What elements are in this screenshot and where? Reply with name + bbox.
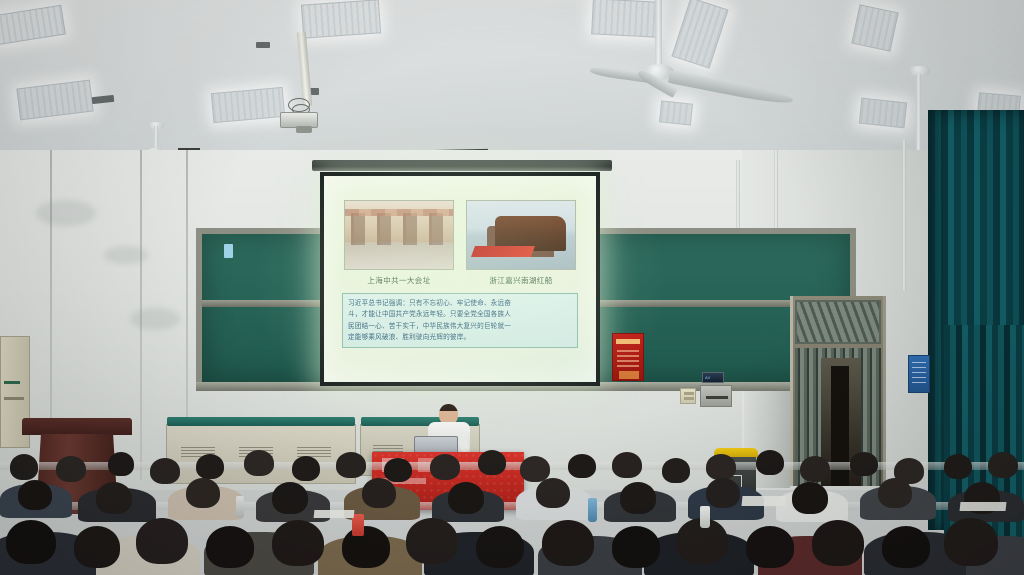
door-transom-grille (795, 300, 881, 344)
audience-head (944, 454, 972, 479)
audience-head (272, 520, 324, 566)
audience-head (988, 452, 1018, 478)
slide-body-line: 定能够乘风破浪、胜利驶向光辉的彼岸。 (348, 332, 572, 343)
audience-head (746, 526, 794, 568)
audience-head (342, 526, 390, 568)
slide-content: 上海中共一大会址 浙江嘉兴南湖红船 习近平总书记强调：只有不忘初心、牢记使命、永… (324, 176, 596, 348)
audience-crowd (0, 440, 1024, 575)
ceiling-light-panel (211, 87, 285, 123)
audience-head (476, 526, 524, 568)
ceiling-light-panel (859, 98, 907, 129)
ceiling-light-panel (0, 5, 66, 46)
water-bottle (236, 496, 244, 518)
audience-head (10, 454, 38, 480)
water-bottle (588, 498, 597, 522)
audience-head (620, 482, 656, 514)
audience-head (706, 478, 740, 508)
audience-head (944, 518, 998, 566)
audience-head (520, 456, 550, 482)
audience-head (706, 454, 736, 480)
audience-head (272, 482, 308, 514)
blue-notice-poster (908, 355, 930, 393)
audience-head (18, 480, 52, 510)
audience-head (108, 452, 134, 476)
audience-head (612, 452, 642, 478)
audience-head (406, 518, 458, 564)
ceiling-light-panel (671, 0, 728, 69)
audience-head (536, 478, 570, 508)
audience-head (56, 456, 86, 482)
slide-captions-row: 上海中共一大会址 浙江嘉兴南湖红船 (336, 275, 584, 286)
audience-head (196, 454, 224, 479)
av-display-text: AV (705, 375, 711, 380)
projection-screen: 上海中共一大会址 浙江嘉兴南湖红船 习近平总书记强调：只有不忘初心、牢记使命、永… (320, 172, 600, 386)
slide-body-line: 习近平总书记强调：只有不忘初心、牢记使命、永远奋 (348, 298, 572, 309)
slide-photo-red-boat (466, 200, 576, 270)
audience-head (136, 518, 188, 564)
slide-caption-right: 浙江嘉兴南湖红船 (466, 275, 576, 286)
paper-stack (314, 510, 355, 518)
light-switch-panel[interactable] (680, 388, 696, 404)
slide-body-line: 民团结一心、苦干实干，中华民族伟大复兴的巨轮就一 (348, 321, 572, 332)
audience-head (542, 520, 594, 566)
audience-head (878, 478, 912, 508)
av-control-display: AV (702, 372, 724, 383)
screen-roller-case (312, 160, 612, 171)
audience-head (568, 454, 596, 478)
paper-stack (960, 502, 1007, 511)
ceiling-light-panel (16, 80, 93, 121)
slide-text-box: 习近平总书记强调：只有不忘初心、牢记使命、永远奋 斗，才能让中国共产党永远年轻。… (342, 293, 578, 348)
av-control-box[interactable] (700, 385, 732, 407)
audience-head (850, 452, 878, 476)
chalkboard-magnet (224, 244, 233, 258)
audience-head (362, 478, 396, 508)
audience-head (612, 526, 660, 568)
audience-head (756, 450, 784, 475)
red-poster (612, 333, 644, 381)
slide-body-line: 斗，才能让中国共产党永远年轻。只要全党全国各族人 (348, 309, 572, 320)
audience-head (206, 526, 254, 568)
ceiling-vent (256, 42, 270, 48)
audience-head (96, 482, 132, 514)
ceiling-vent (92, 95, 115, 104)
cabinet-counter (167, 417, 355, 426)
audience-head (448, 482, 484, 514)
audience-head (662, 458, 690, 483)
audience-head (430, 454, 460, 480)
audience-head (792, 482, 828, 514)
slide-caption-left: 上海中共一大会址 (344, 275, 454, 286)
audience-head (186, 478, 220, 508)
audience-head (478, 450, 506, 475)
audience-head (74, 526, 120, 568)
water-bottle (700, 506, 710, 528)
lectern-top (22, 418, 132, 435)
audience-head (244, 450, 274, 476)
audience-head (292, 456, 320, 481)
audience-head (150, 458, 180, 484)
lecture-hall-photo: 上海中共一大会址 浙江嘉兴南湖红船 习近平总书记强调：只有不忘初心、牢记使命、永… (0, 0, 1024, 575)
audience-head (6, 520, 56, 564)
ceiling-light-panel (851, 4, 898, 51)
slide-images-row (336, 200, 584, 270)
slide-photo-shikumen (344, 200, 454, 270)
ceiling-light-panel (659, 100, 693, 125)
ceiling-light-panel (591, 0, 659, 38)
audience-head (384, 458, 412, 482)
paper-stack (741, 496, 786, 506)
audience-head (800, 456, 830, 482)
thermos-cup (352, 514, 364, 536)
audience-head (882, 526, 930, 568)
audience-head (336, 452, 366, 478)
ceiling-light-panel (301, 0, 381, 39)
audience-head (812, 520, 864, 566)
